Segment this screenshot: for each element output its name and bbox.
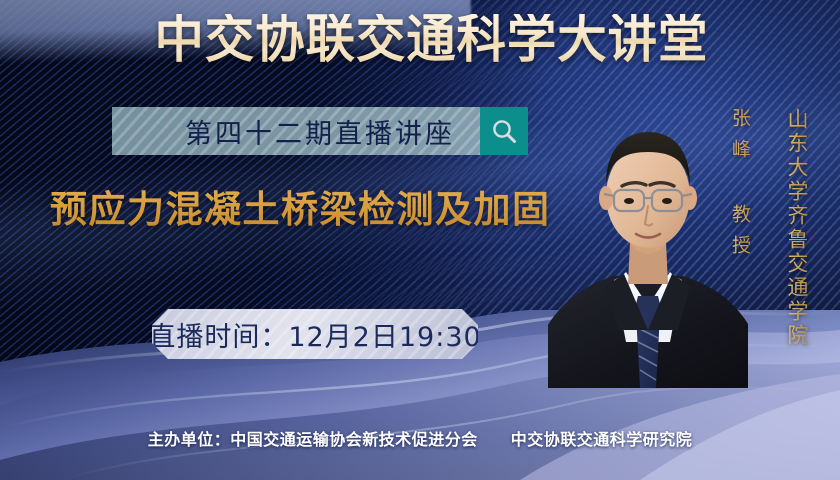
search-button[interactable]: [480, 107, 528, 155]
poster-main-title: 中交协联交通科学大讲堂: [21, 14, 819, 66]
live-lecture-poster: 中交协联交通科学大讲堂 第四十二期直播讲座 预应力混凝土桥梁检测及加固 直播时间…: [0, 0, 840, 480]
speaker-affiliation: 山东大学齐鲁交通学院: [782, 108, 812, 348]
search-icon: [491, 118, 518, 145]
episode-subtitle-text: 第四十二期直播讲座: [137, 112, 455, 151]
live-time-text: 直播时间：12月2日19:30: [152, 315, 478, 354]
lecture-topic-title: 预应力混凝土桥梁检测及加固: [50, 188, 551, 232]
live-time-badge: 直播时间：12月2日19:30: [152, 309, 478, 359]
episode-subtitle-bar: 第四十二期直播讲座: [112, 107, 480, 155]
speaker-portrait: [548, 92, 748, 388]
organizer-footer-text: 主办单位：中国交通运输协会新技术促进分会 中交协联交通科学研究院: [0, 426, 840, 450]
speaker-name-and-title: 张峰 教授: [727, 108, 754, 266]
